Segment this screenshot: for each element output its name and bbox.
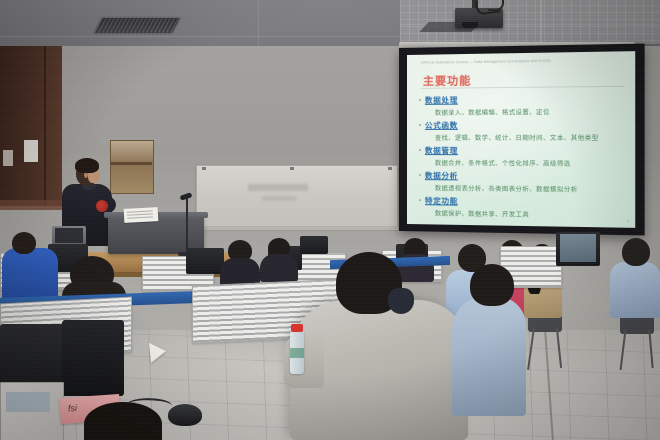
whiteboard-clip [388,167,392,170]
slide-section: 公式函数 查找、逻辑、数学、统计、日期时间、文本、其他类型 [425,119,599,142]
slide-section-heading: 特定功能 [425,195,529,207]
whiteboard-clip [202,167,206,170]
slide-section: 特定功能 数据保护、数据共享、开发工具 [425,195,529,219]
whiteboard-marking [262,196,296,201]
projector-lens-icon [462,22,478,28]
presenter-shirt-logo [96,200,108,212]
wooden-door-panel [0,46,62,206]
podium-paper [124,207,159,223]
slide-section-detail: 数据保护、数据共享、开发工具 [435,208,529,218]
wall-wood-plaque [110,140,154,194]
monitor-front-left2 [62,320,124,396]
whiteboard [196,165,398,229]
door-seam [44,46,46,206]
slide-title: 主要功能 [423,72,471,89]
bullet-icon [419,149,421,151]
bullet-icon [419,124,421,126]
wall-trim [0,200,62,210]
wall-notice-paper [3,150,13,166]
slide-section-detail: 数据录入、数据编辑、格式设置、定位 [435,107,550,117]
whiteboard-tray [196,226,398,230]
student-front-gray-collar [388,288,414,314]
student-far-right-body [610,262,660,318]
monitor-screen-right [560,234,596,262]
slide-section-heading: 公式函数 [425,119,599,131]
bullet-icon [419,174,421,176]
pc-tower-panel [6,392,50,412]
bullet-icon [419,99,421,101]
ceiling-vent-icon [94,18,180,33]
student-front-right-head [470,264,514,306]
slide-section: 数据管理 数据合并、条件格式、个性化排序、高级筛选 [425,145,571,168]
water-bottle-label [290,348,304,358]
slide-section-detail: 数据透视表分析、各类图表分析、数据模拟分析 [435,183,578,194]
student-bottom-left-head [84,402,162,440]
slide-section-heading: 数据分析 [425,170,578,182]
ceiling-seam [258,0,259,52]
presenter-laptop-screen [55,228,83,243]
wall-wood-plaque-line [110,162,152,165]
whiteboard-marking [248,184,308,191]
vent-grille [94,18,180,33]
slide-section-detail: 数据合并、条件格式、个性化排序、高级筛选 [435,158,571,168]
student-front-right-body [452,296,526,416]
whiteboard-clip [290,167,294,170]
bullet-icon [419,199,421,201]
monitor [300,236,328,254]
monitor [186,248,224,274]
wall-notice-paper [24,140,38,162]
slide-section: 数据处理 数据录入、数据编辑、格式设置、定位 [425,94,550,117]
slide-section: 数据分析 数据透视表分析、各类图表分析、数据模拟分析 [425,170,578,194]
slide-section-detail: 查找、逻辑、数学、统计、日期时间、文本、其他类型 [435,133,599,142]
slide-page-number: 5 [627,219,629,223]
water-bottle-cap [291,324,303,332]
presenter-hair [75,158,99,173]
sticky-note-text: fsi [68,403,78,414]
student-far-right-head [622,238,650,266]
student-row2-center-body [260,254,298,282]
slide-section-heading: 数据处理 [425,94,550,106]
projection-screen: OFFICE Automation Course — Data Manageme… [407,51,635,228]
computer-mouse [168,404,202,426]
slide-section-heading: 数据管理 [425,145,571,157]
student-back-left-head [12,232,36,254]
classroom-photo: OFFICE Automation Course — Data Manageme… [0,0,660,440]
ceiling-rail [540,0,542,46]
paper-name-card [149,341,167,363]
